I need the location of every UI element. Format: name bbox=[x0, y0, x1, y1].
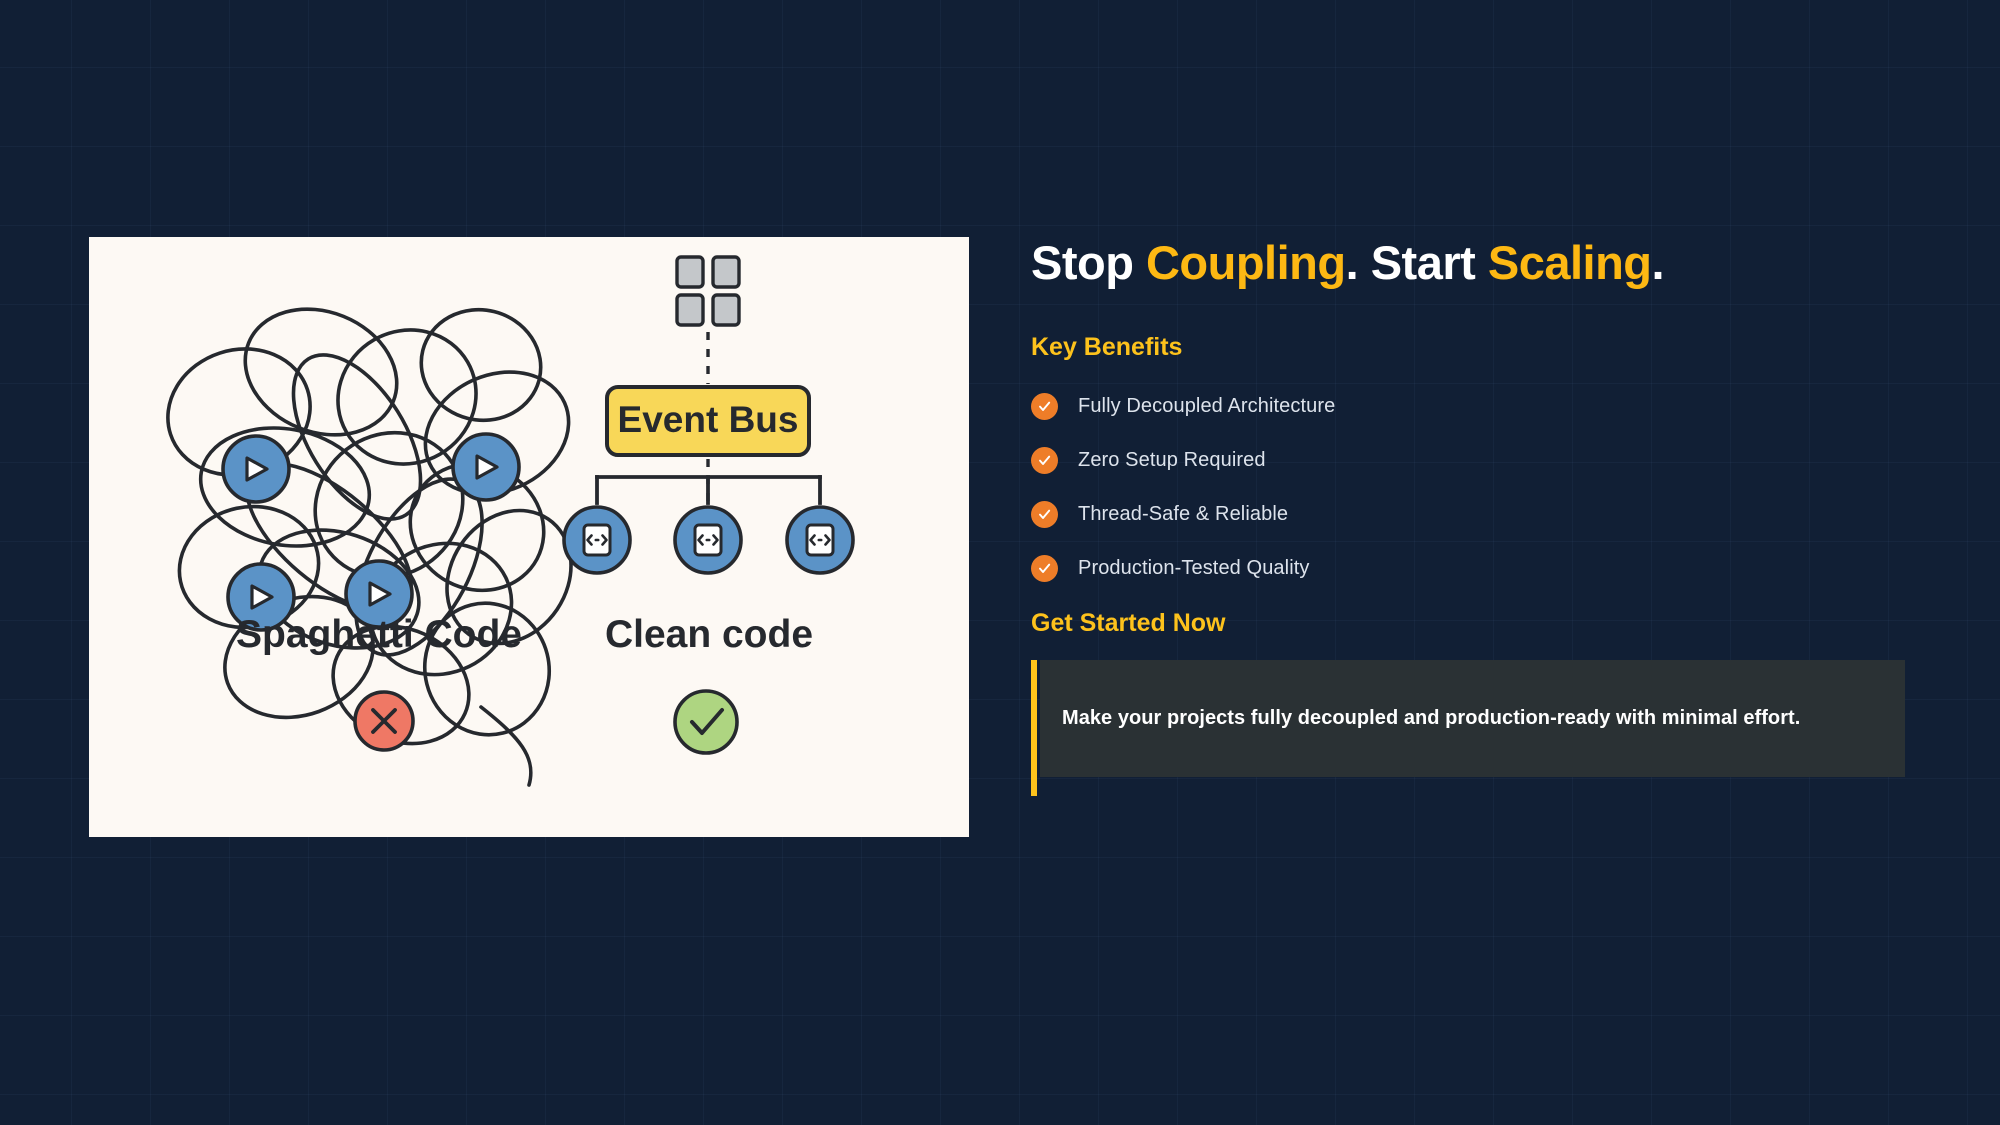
check-icon bbox=[1031, 393, 1058, 420]
cta-accent-bar bbox=[1031, 660, 1037, 796]
check-icon bbox=[1031, 555, 1058, 582]
subscriber-node bbox=[675, 507, 741, 573]
subscriber-bracket bbox=[597, 477, 820, 503]
cta-box: Make your projects fully decoupled and p… bbox=[1040, 660, 1905, 777]
check-icon bbox=[1031, 447, 1058, 474]
check-icon bbox=[1031, 501, 1058, 528]
benefit-item-thread-safe: Thread-Safe & Reliable bbox=[1031, 501, 1921, 528]
clean-code-label: Clean code bbox=[605, 613, 813, 656]
headline-part-1: Stop bbox=[1031, 236, 1146, 289]
spaghetti-code-label: Spaghetti Code bbox=[236, 613, 522, 656]
subscriber-node-group bbox=[564, 507, 853, 573]
benefit-label: Zero Setup Required bbox=[1078, 449, 1266, 472]
get-started-heading: Get Started Now bbox=[1031, 609, 1921, 638]
subscriber-node bbox=[787, 507, 853, 573]
benefits-list: Fully Decoupled Architecture Zero Setup … bbox=[1031, 393, 1921, 582]
key-benefits-heading: Key Benefits bbox=[1031, 333, 1921, 362]
headline-accent-coupling: Coupling bbox=[1146, 236, 1346, 289]
benefit-label: Thread-Safe & Reliable bbox=[1078, 503, 1288, 526]
benefit-item-decoupled: Fully Decoupled Architecture bbox=[1031, 393, 1921, 420]
headline-accent-scaling: Scaling bbox=[1488, 236, 1652, 289]
spaghetti-node bbox=[223, 436, 289, 502]
benefit-item-zero-setup: Zero Setup Required bbox=[1031, 447, 1921, 474]
benefit-label: Production-Tested Quality bbox=[1078, 557, 1310, 580]
headline-part-2: . Start bbox=[1346, 236, 1488, 289]
headline-part-3: . bbox=[1652, 236, 1665, 289]
architecture-comparison-diagram: Event Bus Spaghett bbox=[89, 237, 969, 837]
spaghetti-status-badge bbox=[355, 692, 413, 750]
benefit-item-production-tested: Production-Tested Quality bbox=[1031, 555, 1921, 582]
cta-callout: Make your projects fully decoupled and p… bbox=[1031, 660, 1921, 796]
spaghetti-node-group bbox=[223, 434, 519, 630]
event-bus-box: Event Bus bbox=[607, 387, 809, 455]
grid-app-icon bbox=[677, 257, 739, 325]
content-column: Stop Coupling. Start Scaling. Key Benefi… bbox=[1031, 237, 1921, 796]
page-title: Stop Coupling. Start Scaling. bbox=[1031, 237, 1921, 289]
benefit-label: Fully Decoupled Architecture bbox=[1078, 395, 1335, 418]
illustration-card: Event Bus Spaghett bbox=[89, 237, 969, 837]
subscriber-node bbox=[564, 507, 630, 573]
event-bus-label: Event Bus bbox=[618, 399, 799, 440]
cta-text: Make your projects fully decoupled and p… bbox=[1040, 707, 1800, 730]
clean-status-badge bbox=[675, 691, 737, 753]
spaghetti-node bbox=[453, 434, 519, 500]
